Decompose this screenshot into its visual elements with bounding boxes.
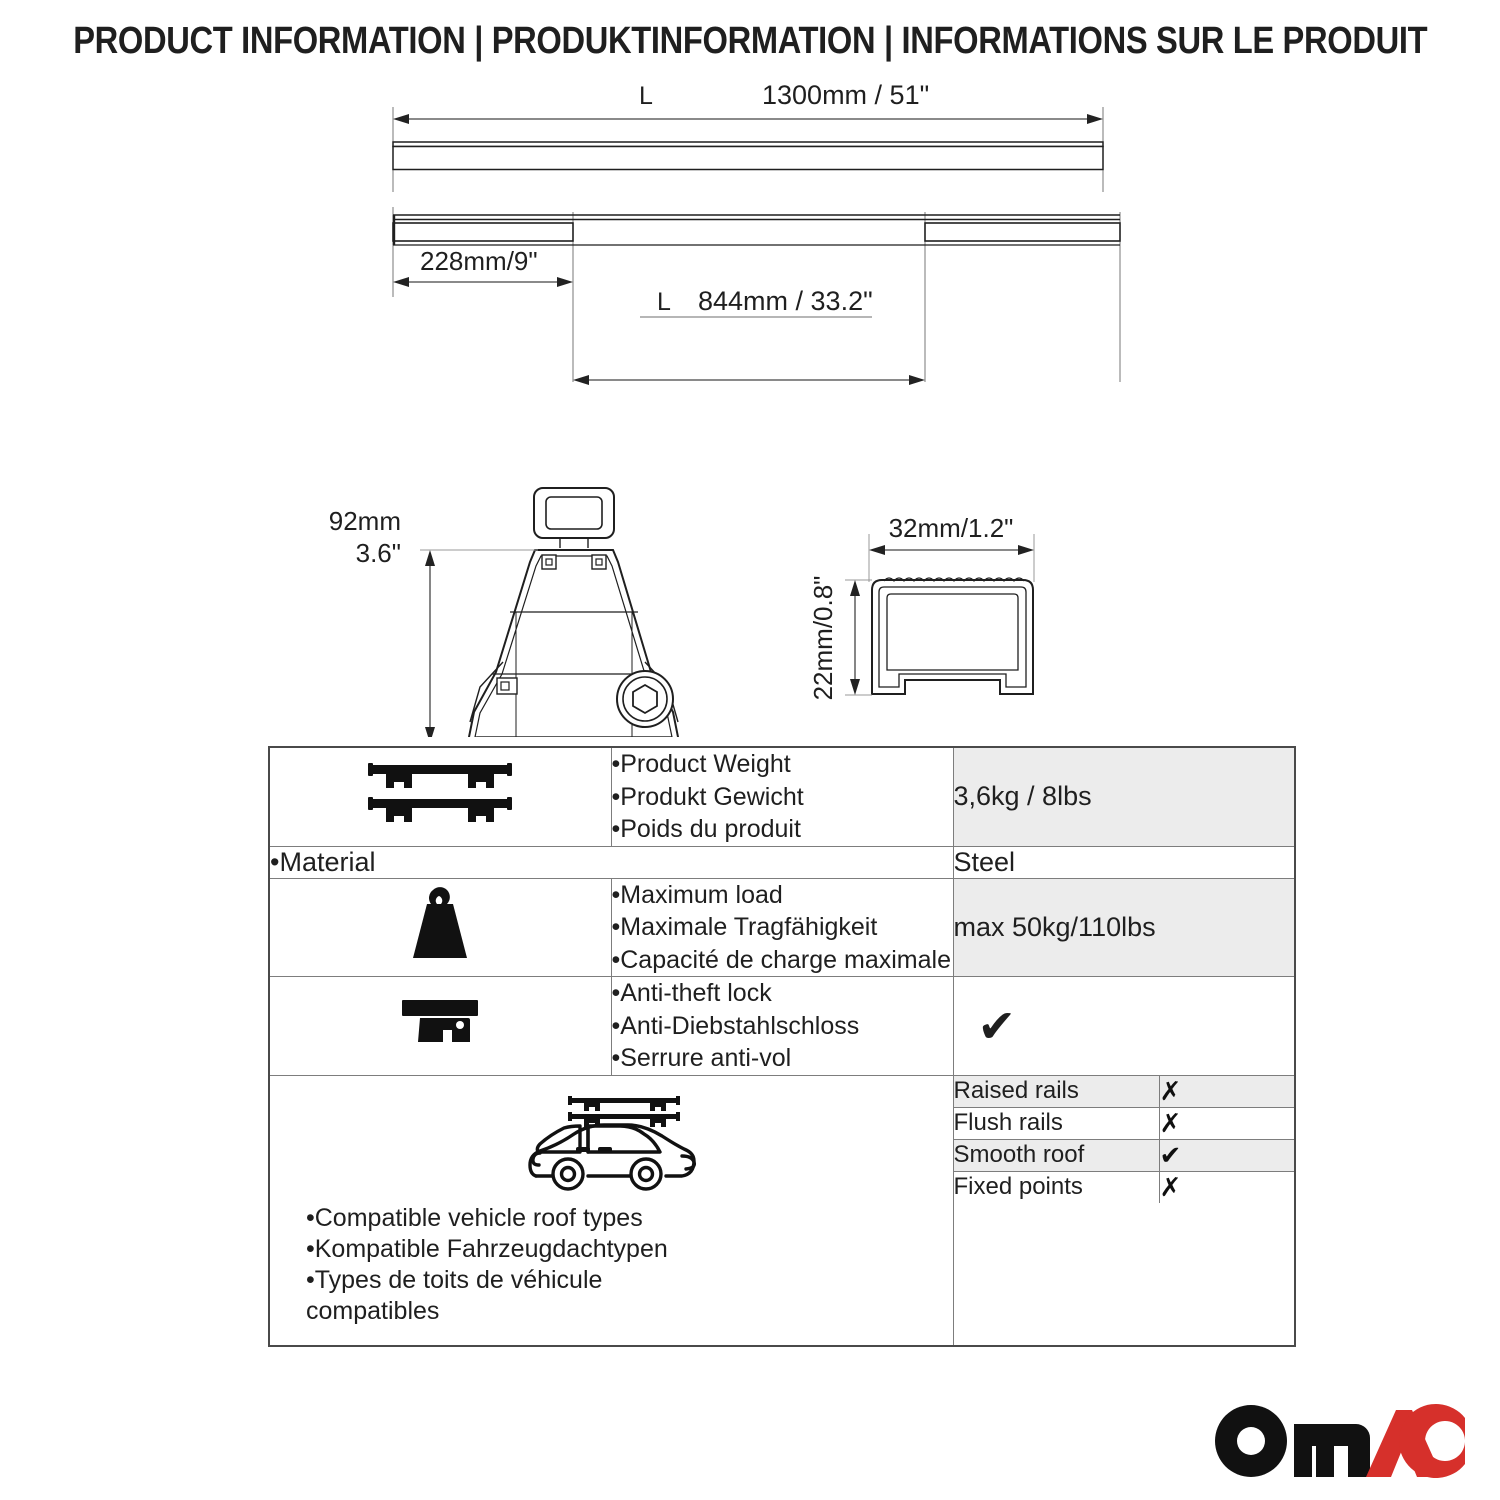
span-prefix: L — [657, 288, 671, 316]
checkmark-icon: ✔ — [954, 1003, 1017, 1049]
label-line: •Anti-theft lock — [612, 977, 953, 1010]
roof-types-description: •Compatible vehicle roof types •Kompatib… — [278, 1199, 945, 1327]
roof-types-subtable-cell: Raised rails ✗ Flush rails ✗ Smooth roof… — [953, 1075, 1295, 1346]
roof-type-value: ✔ — [1159, 1139, 1294, 1171]
car-icon-wrap — [278, 1090, 945, 1199]
roof-type-row: Raised rails ✗ — [954, 1076, 1295, 1108]
foot-height-line1: 92mm — [329, 506, 401, 536]
table-row: •Anti-theft lock •Anti-Diebstahlschloss … — [269, 977, 1295, 1076]
roof-type-name: Fixed points — [954, 1171, 1160, 1203]
table-row: •Product Weight •Produkt Gewicht •Poids … — [269, 747, 1295, 846]
profile-height-value: 22mm/0.8" — [808, 576, 838, 701]
product-weight-value: 3,6kg / 8lbs — [953, 747, 1295, 846]
product-weight-icon-cell — [269, 747, 611, 846]
material-value: Steel — [953, 846, 1295, 878]
roof-types-description-cell: •Compatible vehicle roof types •Kompatib… — [269, 1075, 953, 1346]
max-load-value: max 50kg/110lbs — [953, 878, 1295, 977]
roof-types-table: Raised rails ✗ Flush rails ✗ Smooth roof… — [954, 1076, 1295, 1203]
roof-type-row: Smooth roof ✔ — [954, 1139, 1295, 1171]
max-load-labels: •Maximum load •Maximale Tragfähigkeit •C… — [611, 878, 953, 977]
label-line: •Poids du produit — [612, 813, 953, 846]
label-line: •Maximum load — [612, 879, 953, 912]
roof-type-name: Raised rails — [954, 1076, 1160, 1108]
product-weight-labels: •Product Weight •Produkt Gewicht •Poids … — [611, 747, 953, 846]
label-line: •Serrure anti-vol — [612, 1042, 953, 1075]
specification-table: •Product Weight •Produkt Gewicht •Poids … — [268, 746, 1296, 1347]
foot-height-line2: 3.6" — [356, 538, 401, 568]
roof-type-value: ✗ — [1159, 1107, 1294, 1139]
product-information-sheet: PRODUCT INFORMATION | PRODUKTINFORMATION… — [0, 0, 1500, 1500]
bar-length-value: 1300mm / 51" — [762, 82, 929, 110]
technical-drawing-area: L 1300mm / 51" 228mm/9" L 844mm / 33.2" … — [0, 82, 1500, 737]
label-line: •Anti-Diebstahlschloss — [612, 1010, 953, 1043]
lock-icon-cell — [269, 977, 611, 1076]
profile-width-value: 32mm/1.2" — [889, 513, 1014, 543]
weight-icon — [397, 882, 483, 968]
anti-theft-labels: •Anti-theft lock •Anti-Diebstahlschloss … — [611, 977, 953, 1076]
material-label: •Material — [269, 846, 953, 878]
roof-type-value: ✗ — [1159, 1076, 1294, 1108]
table-row-roof-types: •Compatible vehicle roof types •Kompatib… — [269, 1075, 1295, 1346]
label-line: •Produkt Gewicht — [612, 781, 953, 814]
max-load-icon-cell — [269, 878, 611, 977]
roof-type-value: ✗ — [1159, 1171, 1294, 1203]
table-row: •Material Steel — [269, 846, 1295, 878]
omac-logo — [1214, 1404, 1466, 1478]
roof-type-row: Fixed points ✗ — [954, 1171, 1295, 1203]
bar-length-prefix: L — [639, 82, 653, 110]
anti-theft-value-cell: ✔ — [953, 977, 1295, 1076]
page-header: PRODUCT INFORMATION | PRODUKTINFORMATION… — [0, 0, 1500, 82]
omac-logo-svg — [1214, 1404, 1466, 1478]
foot-offset-value: 228mm/9" — [420, 246, 538, 276]
table-row: •Maximum load •Maximale Tragfähigkeit •C… — [269, 878, 1295, 977]
roof-type-row: Flush rails ✗ — [954, 1107, 1295, 1139]
roof-type-name: Smooth roof — [954, 1139, 1160, 1171]
page-title: PRODUCT INFORMATION | PRODUKTINFORMATION… — [73, 20, 1427, 63]
crossbars-icon — [364, 757, 516, 831]
span-value: 844mm / 33.2" — [698, 286, 873, 316]
label-line: •Maximale Tragfähigkeit — [612, 911, 953, 944]
car-with-rack-icon — [518, 1090, 704, 1194]
roof-type-name: Flush rails — [954, 1107, 1160, 1139]
technical-drawing-svg: L 1300mm / 51" 228mm/9" L 844mm / 33.2" … — [0, 82, 1500, 737]
lock-icon — [390, 992, 490, 1054]
label-line: •Product Weight — [612, 748, 953, 781]
label-line: •Capacité de charge maximale — [612, 944, 953, 977]
